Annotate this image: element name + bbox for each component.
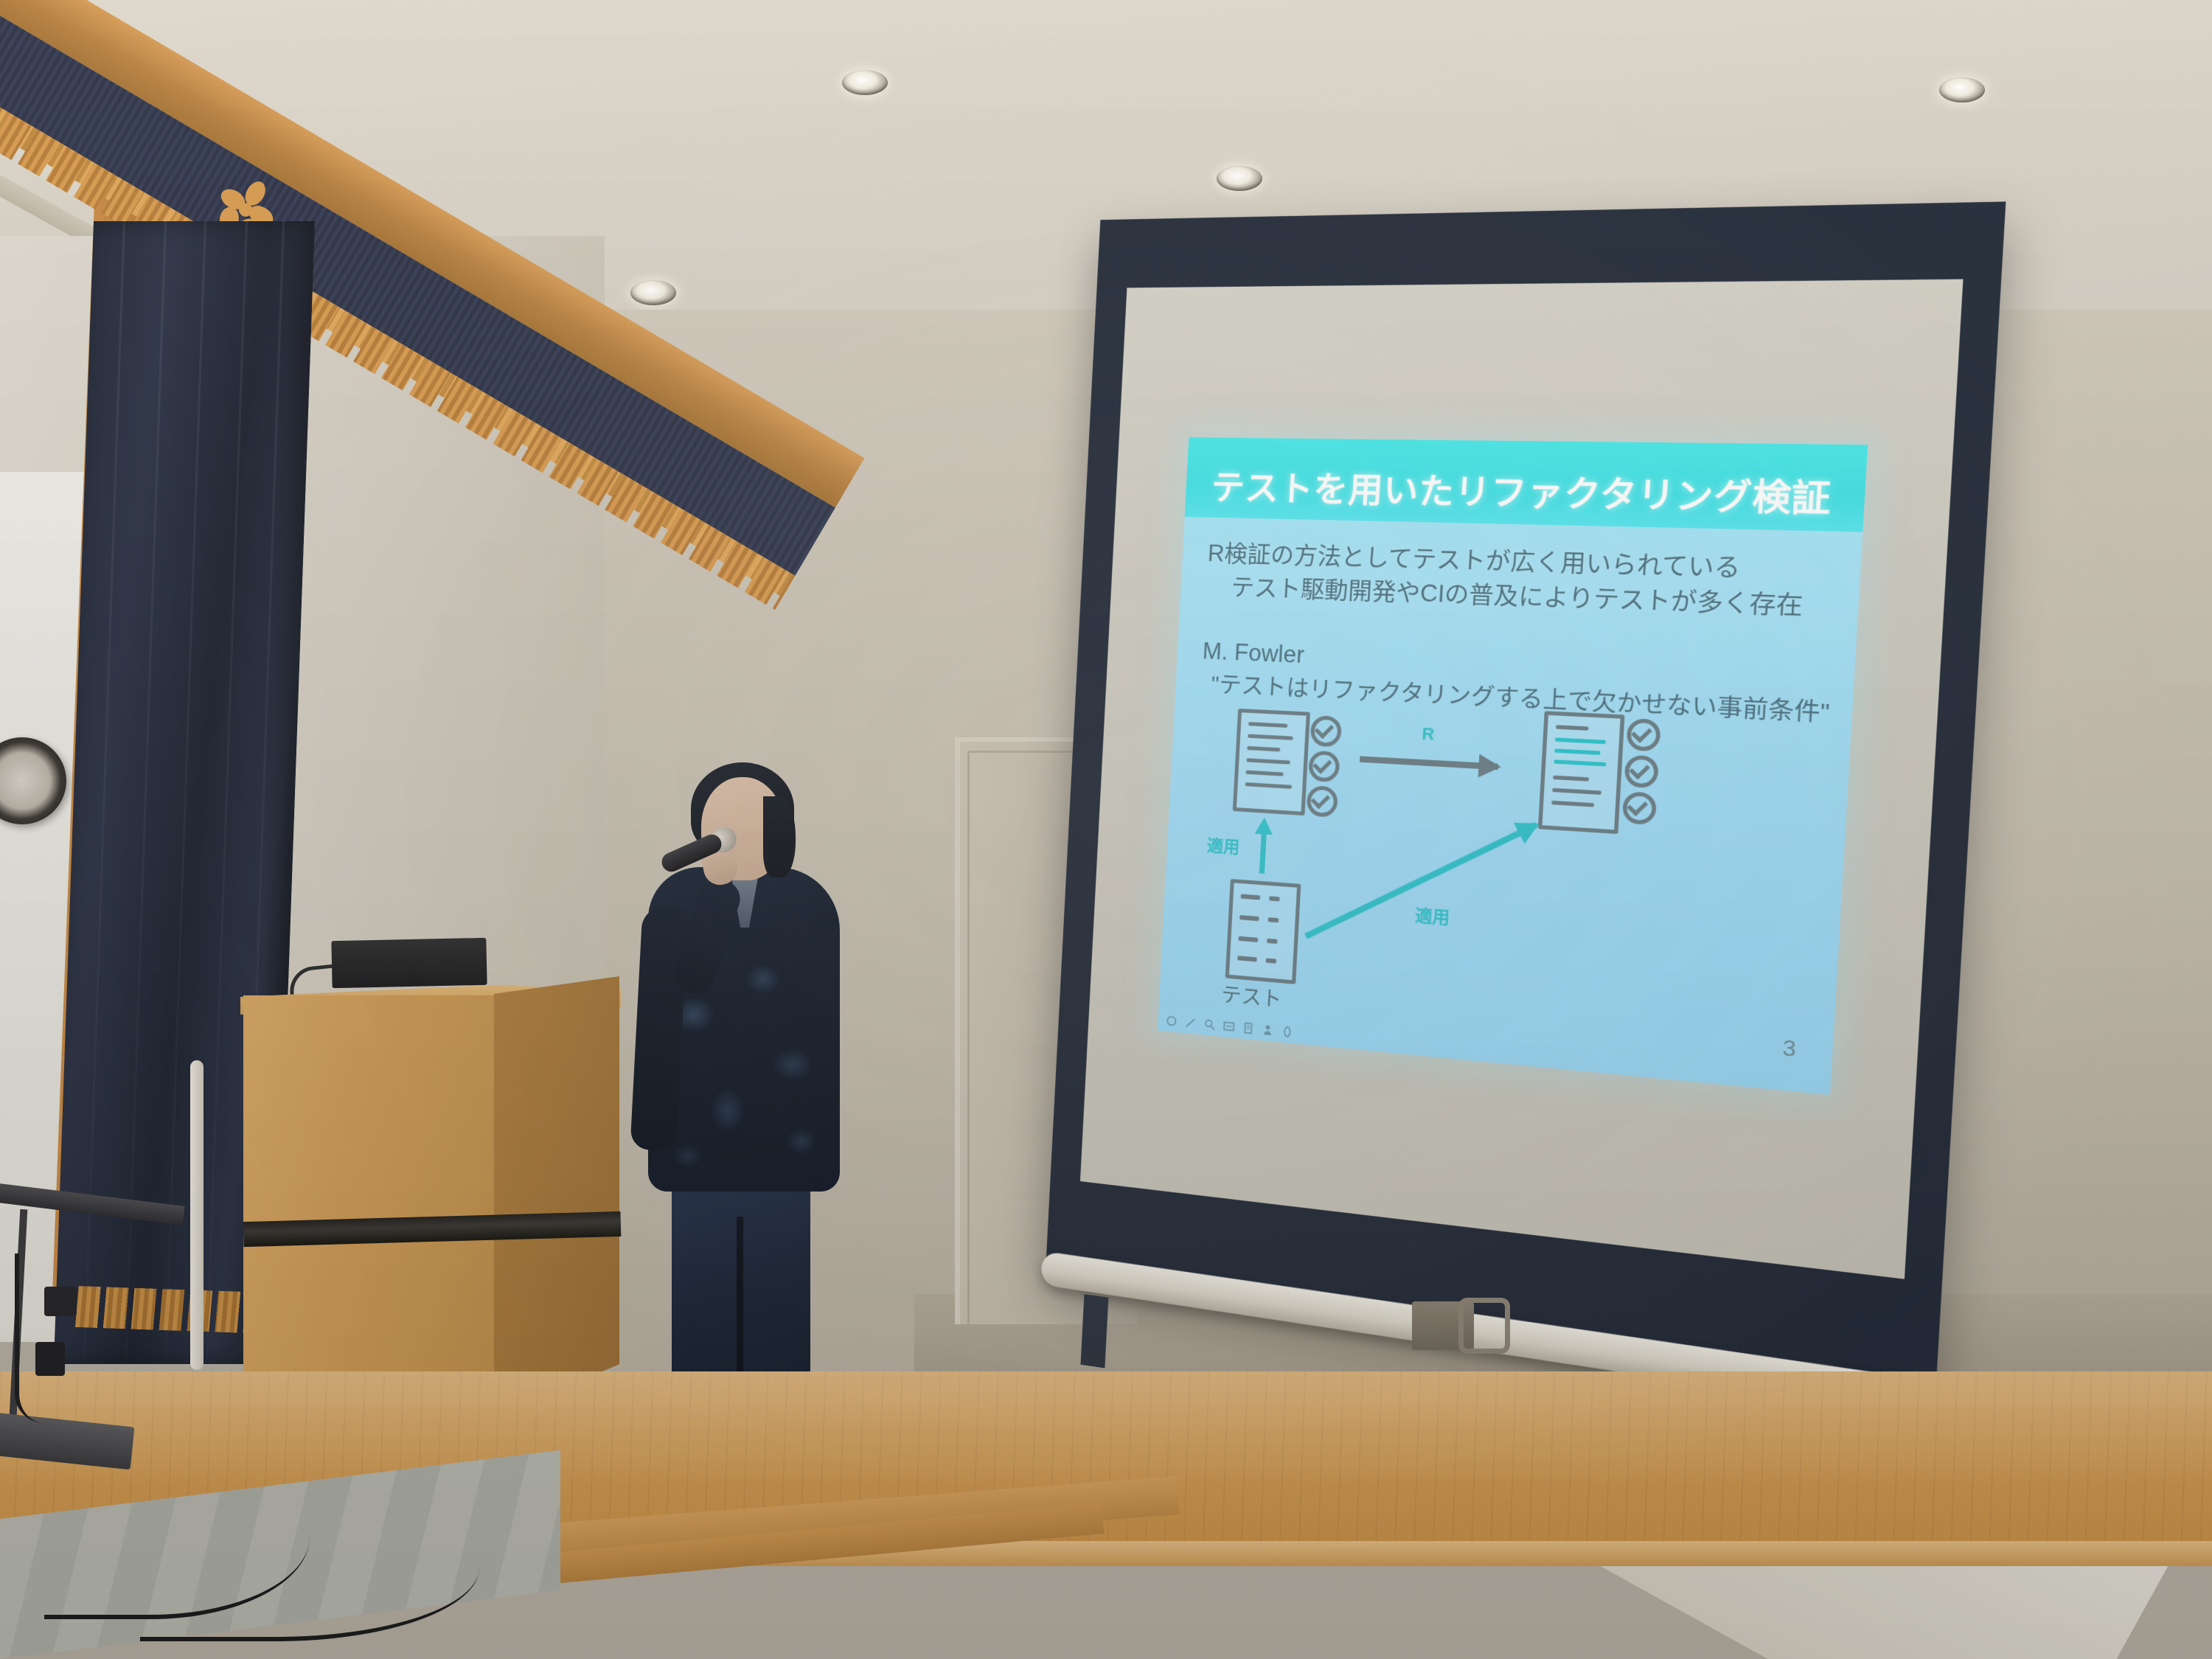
slide-body: R検証の方法としてテストが広く用いられている テスト駆動開発やCIの普及によりテ… (1200, 537, 1840, 728)
presenter-icon[interactable] (1261, 1023, 1274, 1037)
wall-plug (1458, 1298, 1510, 1354)
screen-icon[interactable] (1222, 1020, 1236, 1034)
slide-page-number: 3 (1781, 1035, 1796, 1062)
downlight-icon (1939, 77, 1985, 102)
pdf-viewer-toolbar[interactable] (1165, 1014, 1294, 1039)
check-icon (1306, 785, 1338, 818)
pointer-icon[interactable] (1165, 1014, 1178, 1028)
notes-icon[interactable] (1242, 1021, 1255, 1035)
curtain-tieback-rod (190, 1060, 204, 1370)
diagram-arrow-up-label: 適用 (1206, 832, 1240, 858)
check-icon (1622, 791, 1657, 825)
screen-hook (1080, 1294, 1108, 1368)
curtain-fringe (75, 1286, 248, 1333)
downlight-icon (1217, 166, 1262, 191)
diagram-arrow-diag-label: 適用 (1414, 902, 1450, 929)
presenter-hair-side (763, 796, 796, 877)
downlight-icon (630, 280, 676, 305)
check-icon (1308, 751, 1340, 783)
lectern-podium (243, 981, 612, 1438)
presenter (623, 767, 866, 1430)
downlight-icon (842, 70, 888, 95)
projector-screen: テストを用いたリファクタリング検証 R検証の方法としてテストが広く用いられている… (1046, 201, 2006, 1391)
check-icon (1626, 718, 1661, 752)
diagram-doc-test (1225, 879, 1301, 984)
pen-icon[interactable] (1184, 1016, 1197, 1030)
podium-monitor (331, 938, 487, 988)
cable-1 (15, 1253, 63, 1423)
check-icon (1624, 755, 1660, 789)
magnifier-icon[interactable] (1203, 1018, 1217, 1032)
diagram-test-label: テスト (1221, 978, 1283, 1012)
more-icon[interactable] (1281, 1025, 1294, 1039)
arrow-refactor (1360, 756, 1498, 770)
diagram-arrow-top-label: R (1422, 724, 1435, 745)
projected-slide: テストを用いたリファクタリング検証 R検証の方法としてテストが広く用いられている… (1158, 437, 1868, 1095)
diagram-doc-before (1233, 709, 1310, 815)
screen-surface: テストを用いたリファクタリング検証 R検証の方法としてテストが広く用いられている… (1080, 279, 1964, 1279)
diagram-doc-after (1538, 711, 1625, 834)
slide-diagram: R 適用 (1192, 701, 1813, 999)
photo-scene: テストを用いたリファクタリング検証 R検証の方法としてテストが広く用いられている… (0, 0, 2212, 1659)
cable-3 (140, 1519, 479, 1641)
podium-side-panel (494, 976, 619, 1417)
check-icon (1310, 715, 1343, 748)
arrow-apply-up (1259, 832, 1267, 874)
